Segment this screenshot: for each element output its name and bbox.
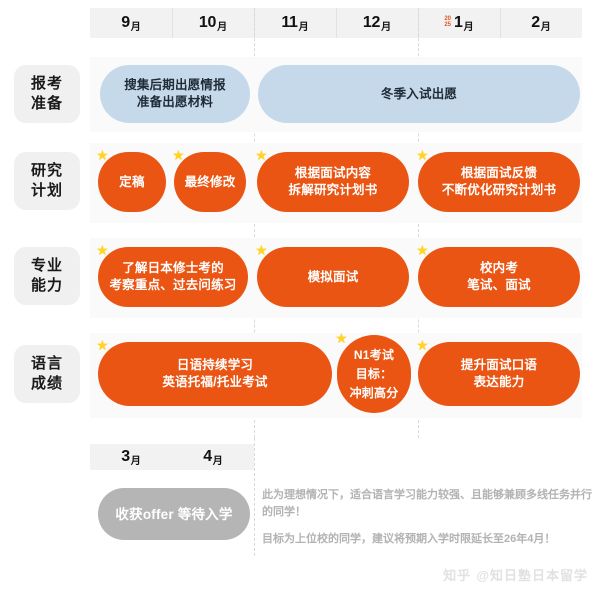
task-pill[interactable]: ★ 定稿 bbox=[98, 152, 166, 212]
row-label-line1: 专业 bbox=[31, 256, 63, 276]
year-flag-bottom: 25 bbox=[444, 22, 451, 29]
task-pill[interactable]: ★ 日语持续学习 英语托福/托业考试 bbox=[98, 342, 332, 406]
month-number: 11 bbox=[281, 14, 297, 32]
star-icon: ★ bbox=[96, 244, 109, 257]
task-line: 英语托福/托业考试 bbox=[162, 374, 267, 391]
star-icon: ★ bbox=[335, 332, 348, 345]
month-header-cell-5: 2月 bbox=[500, 8, 582, 38]
row-label-application-prep: 报考 准备 bbox=[14, 65, 80, 123]
star-icon: ★ bbox=[96, 149, 109, 162]
task-line: 冬季入试出愿 bbox=[381, 86, 457, 103]
month-unit: 月 bbox=[381, 18, 391, 33]
row-label-line2: 计划 bbox=[31, 181, 63, 201]
footnote-block: 此为理想情况下，适合语言学习能力较强、且能够兼顾多线任务并行的同学！ 目标为上位… bbox=[262, 487, 592, 548]
task-line: 提升面试口语 bbox=[461, 357, 537, 374]
task-line: 目标： bbox=[356, 365, 393, 384]
month-unit: 月 bbox=[131, 452, 141, 467]
month-number: 10 bbox=[199, 14, 216, 32]
watermark-account: @知日塾日本留学 bbox=[476, 565, 588, 584]
month-unit: 月 bbox=[299, 18, 309, 33]
bottom-month-cell-1: 4月 bbox=[172, 444, 254, 470]
row-label-line1: 研究 bbox=[31, 161, 63, 181]
month-header-cell-3: 12月 bbox=[336, 8, 418, 38]
task-line: 校内考 bbox=[480, 260, 518, 277]
task-line: 定稿 bbox=[119, 174, 144, 191]
task-line: 准备出愿材料 bbox=[137, 94, 213, 111]
star-icon: ★ bbox=[255, 149, 268, 162]
row-professional-ability: 专业 能力 ★ 了解日本修士考的 考察重点、过去问练习 ★ 模拟面试 ★ 校内考… bbox=[0, 238, 600, 318]
bottom-month-cell-0: 3月 bbox=[90, 444, 172, 470]
row-label-line2: 能力 bbox=[31, 276, 63, 296]
task-line: 不断优化研究计划书 bbox=[442, 182, 556, 199]
month-unit: 月 bbox=[541, 18, 551, 33]
band-separator bbox=[336, 8, 337, 38]
watermark-platform: 知乎 bbox=[443, 565, 471, 584]
row-label-language-score: 语言 成绩 bbox=[14, 345, 80, 403]
month-header-cell-1: 10月 bbox=[172, 8, 254, 38]
task-pill[interactable]: 冬季入试出愿 bbox=[258, 65, 580, 123]
column-guide-bottom bbox=[254, 438, 255, 556]
month-header-cell-0: 9月 bbox=[90, 8, 172, 38]
task-line: 拆解研究计划书 bbox=[289, 182, 378, 199]
task-pill[interactable]: ★ 模拟面试 bbox=[257, 247, 409, 307]
month-number: 3 bbox=[121, 448, 130, 466]
task-line: 了解日本修士考的 bbox=[122, 260, 224, 277]
year-flag-2025: 20 25 bbox=[444, 16, 451, 29]
offer-pill-label: 收获offer 等待入学 bbox=[115, 506, 232, 523]
task-pill[interactable]: ★ 提升面试口语 表达能力 bbox=[418, 342, 580, 406]
task-pill[interactable]: ★ 了解日本修士考的 考察重点、过去问练习 bbox=[98, 247, 248, 307]
bottom-month-band: 3月 4月 bbox=[90, 444, 254, 470]
star-icon: ★ bbox=[172, 149, 185, 162]
task-line: 根据面试内容 bbox=[295, 165, 371, 182]
star-icon: ★ bbox=[416, 149, 429, 162]
month-unit: 月 bbox=[217, 18, 227, 33]
row-application-prep: 报考 准备 搜集后期出愿情报 准备出愿材料 冬季入试出愿 bbox=[0, 57, 600, 132]
month-number: 2 bbox=[531, 14, 540, 32]
row-label-professional-ability: 专业 能力 bbox=[14, 247, 80, 305]
task-line: 模拟面试 bbox=[308, 269, 359, 286]
month-header-cell-2: 11月 bbox=[254, 8, 336, 38]
timeline-infographic: 9月 10月 11月 12月 20 25 1月 2月 报考 准 bbox=[0, 0, 600, 594]
task-line: 笔试、面试 bbox=[467, 277, 531, 294]
row-label-line2: 成绩 bbox=[31, 374, 63, 394]
task-pill[interactable]: ★ 根据面试内容 拆解研究计划书 bbox=[257, 152, 409, 212]
row-label-line1: 语言 bbox=[31, 354, 63, 374]
star-icon: ★ bbox=[255, 244, 268, 257]
task-pill[interactable]: ★ 校内考 笔试、面试 bbox=[418, 247, 580, 307]
star-icon: ★ bbox=[416, 244, 429, 257]
month-unit: 月 bbox=[213, 452, 223, 467]
task-pill[interactable]: ★ 最终修改 bbox=[174, 152, 246, 212]
month-unit: 月 bbox=[464, 18, 474, 33]
month-unit: 月 bbox=[131, 18, 141, 33]
row-label-line1: 报考 bbox=[31, 74, 63, 94]
month-number: 12 bbox=[363, 14, 380, 32]
footnote-line-2: 目标为上位校的同学，建议将预期入学时限延长至26年4月！ bbox=[262, 531, 592, 548]
task-line: 表达能力 bbox=[474, 374, 525, 391]
band-separator bbox=[500, 8, 501, 38]
task-line: 最终修改 bbox=[185, 174, 236, 191]
band-separator bbox=[172, 8, 173, 38]
month-header-cell-4: 20 25 1月 bbox=[418, 8, 500, 38]
star-icon: ★ bbox=[96, 339, 109, 352]
task-line: 考察重点、过去问练习 bbox=[109, 277, 236, 294]
task-pill[interactable]: ★ 根据面试反馈 不断优化研究计划书 bbox=[418, 152, 580, 212]
task-pill[interactable]: ★ N1考试 目标： 冲刺高分 bbox=[337, 335, 411, 413]
month-number: 4 bbox=[203, 448, 212, 466]
row-label-line2: 准备 bbox=[31, 94, 63, 114]
footnote-line-1: 此为理想情况下，适合语言学习能力较强、且能够兼顾多线任务并行的同学！ bbox=[262, 487, 592, 521]
task-line: N1考试 bbox=[354, 346, 394, 365]
task-line: 日语持续学习 bbox=[177, 357, 253, 374]
task-line: 根据面试反馈 bbox=[461, 165, 537, 182]
star-icon: ★ bbox=[416, 339, 429, 352]
offer-pill[interactable]: 收获offer 等待入学 bbox=[98, 488, 250, 540]
row-language-score: 语言 成绩 ★ 日语持续学习 英语托福/托业考试 ★ N1考试 目标： 冲刺高分… bbox=[0, 333, 600, 418]
month-number: 1 bbox=[454, 14, 463, 32]
row-research-plan: 研究 计划 ★ 定稿 ★ 最终修改 ★ 根据面试内容 拆解研究计划书 ★ 根据面… bbox=[0, 143, 600, 223]
task-line: 搜集后期出愿情报 bbox=[124, 77, 226, 94]
row-label-research-plan: 研究 计划 bbox=[14, 152, 80, 210]
month-number: 9 bbox=[121, 14, 130, 32]
task-line: 冲刺高分 bbox=[350, 384, 399, 403]
task-pill[interactable]: 搜集后期出愿情报 准备出愿材料 bbox=[100, 65, 250, 123]
watermark: 知乎 @知日塾日本留学 bbox=[443, 565, 588, 584]
